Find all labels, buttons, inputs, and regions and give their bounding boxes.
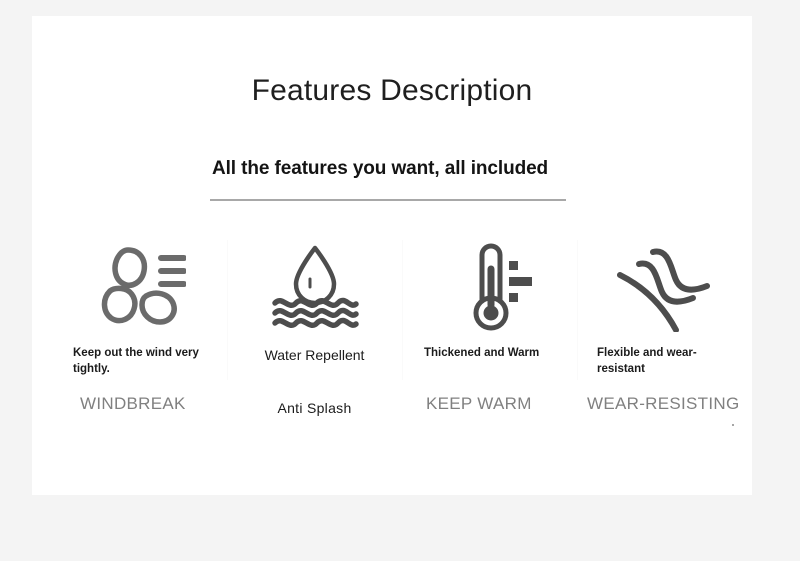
- feature-card-keep-warm: Thickened and Warm KEEP WARM: [402, 228, 577, 448]
- feature-brand: Anti Splash: [237, 400, 392, 416]
- feature-caption: Water Repellent: [237, 346, 392, 378]
- feature-card-windbreak: Keep out the wind very tightly. WINDBREA…: [52, 228, 227, 448]
- subtitle-divider: [210, 199, 566, 201]
- features-panel: Features Description All the features yo…: [32, 16, 752, 495]
- subtitle-block: All the features you want, all included: [210, 158, 566, 201]
- water-droplet-waves-icon: [237, 228, 392, 346]
- feature-brand: WEAR-RESISTING: [587, 394, 742, 414]
- feature-brand: WINDBREAK: [62, 394, 217, 414]
- feature-caption: Flexible and wear-resistant: [587, 346, 742, 378]
- stray-dot: [732, 424, 734, 426]
- fan-windbreak-icon: [62, 228, 217, 346]
- page-subtitle: All the features you want, all included: [210, 158, 566, 180]
- thermometer-icon: [412, 228, 567, 346]
- feature-card-water-repellent: Water Repellent Anti Splash: [227, 228, 402, 448]
- feature-caption: Thickened and Warm: [412, 346, 567, 378]
- feature-brand: KEEP WARM: [412, 394, 567, 414]
- page-title: Features Description: [32, 74, 752, 108]
- flexible-curves-icon: [587, 228, 742, 346]
- features-grid: Keep out the wind very tightly. WINDBREA…: [52, 228, 752, 448]
- feature-caption: Keep out the wind very tightly.: [62, 346, 217, 378]
- feature-card-wear-resisting: Flexible and wear-resistant WEAR-RESISTI…: [577, 228, 752, 448]
